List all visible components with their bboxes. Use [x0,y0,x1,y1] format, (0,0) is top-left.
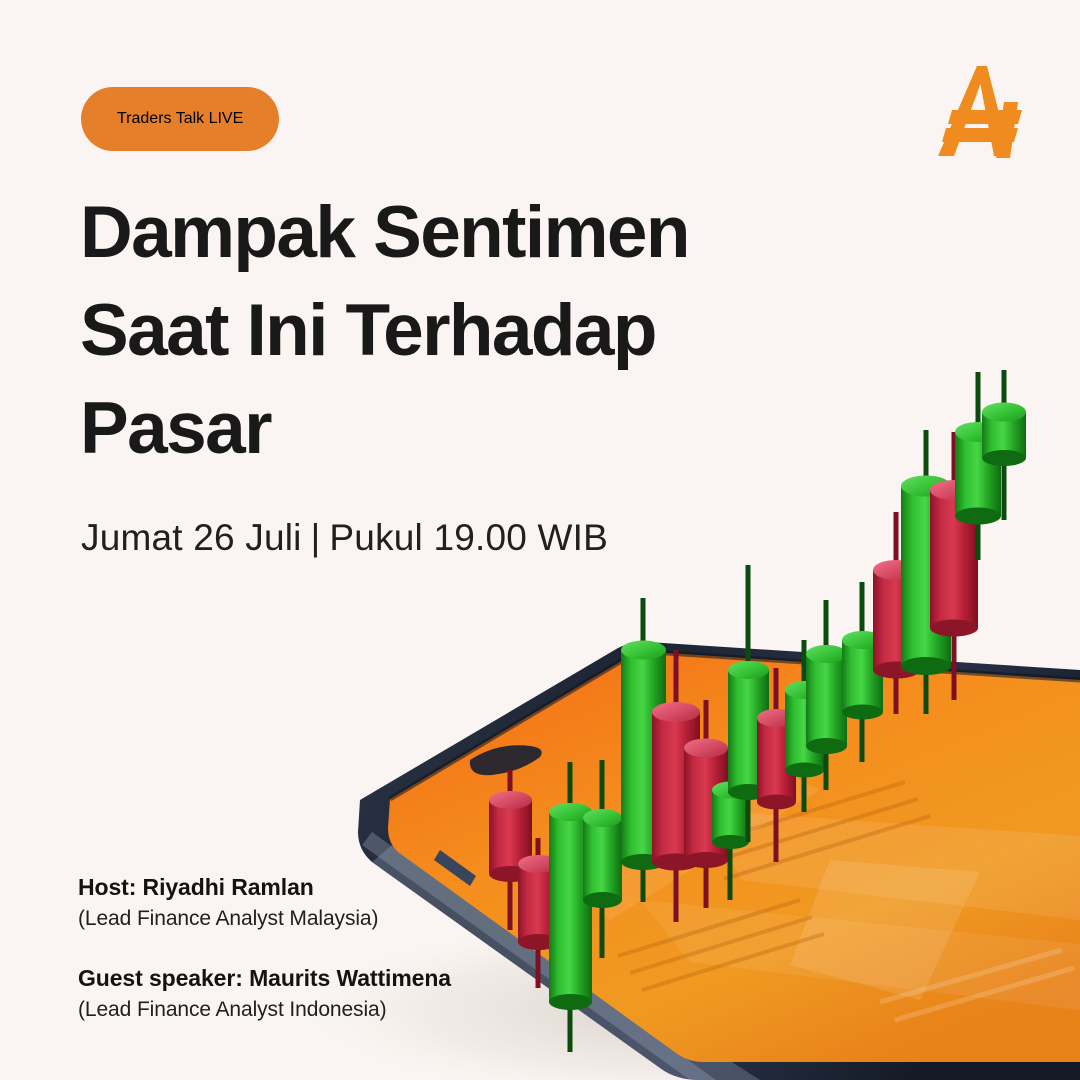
candle-down-5 [757,668,796,862]
speaker-credits: Host: Riyadhi Ramlan (Lead Finance Analy… [78,874,451,1022]
abans-a-logo [930,62,1040,162]
live-badge[interactable]: Traders Talk LIVE [81,87,279,151]
candle-down-1 [489,770,532,930]
datetime-separator: | [302,517,330,558]
candle-up-1 [549,762,592,1052]
smartphone-graphic [358,642,1080,1080]
page-title: Dampak Sentimen Saat Ini Terhadap Pasar [80,196,780,490]
candle-up-4 [712,752,749,900]
candle-up-11 [982,370,1026,520]
host-role: (Lead Finance Analyst Malaysia) [78,907,451,931]
poster-canvas: Traders Talk LIVE Dampak Sentimen Saat I… [0,0,1080,1080]
candle-up-7 [806,600,847,790]
event-datetime: Jumat 26 Juli|Pukul 19.00 WIB [81,517,608,559]
candle-down-7 [930,432,978,700]
candle-up-9 [901,430,951,714]
candle-up-8 [842,582,883,762]
host-name: Host: Riyadhi Ramlan [78,874,451,901]
event-time: Pukul 19.00 WIB [329,517,608,558]
guest-name: Guest speaker: Maurits Wattimena [78,965,451,992]
guest-role: (Lead Finance Analyst Indonesia) [78,998,451,1022]
event-date: Jumat 26 Juli [81,517,302,558]
candle-up-6 [785,640,824,812]
candle-up-10 [955,372,1001,560]
candle-down-4 [684,700,728,908]
host-credit: Host: Riyadhi Ramlan (Lead Finance Analy… [78,874,451,931]
headline-line-2: Saat Ini Terhadap [80,294,780,367]
live-badge-label: Traders Talk LIVE [117,110,243,128]
candle-up-5 [728,565,769,842]
candle-down-6 [873,512,920,714]
candle-up-2 [583,760,622,958]
headline-line-3: Pasar [80,392,780,465]
candle-down-2 [518,838,559,988]
candle-down-3 [652,650,700,922]
candle-up-3 [621,598,666,902]
headline-line-1: Dampak Sentimen [80,196,780,269]
guest-credit: Guest speaker: Maurits Wattimena (Lead F… [78,965,451,1022]
